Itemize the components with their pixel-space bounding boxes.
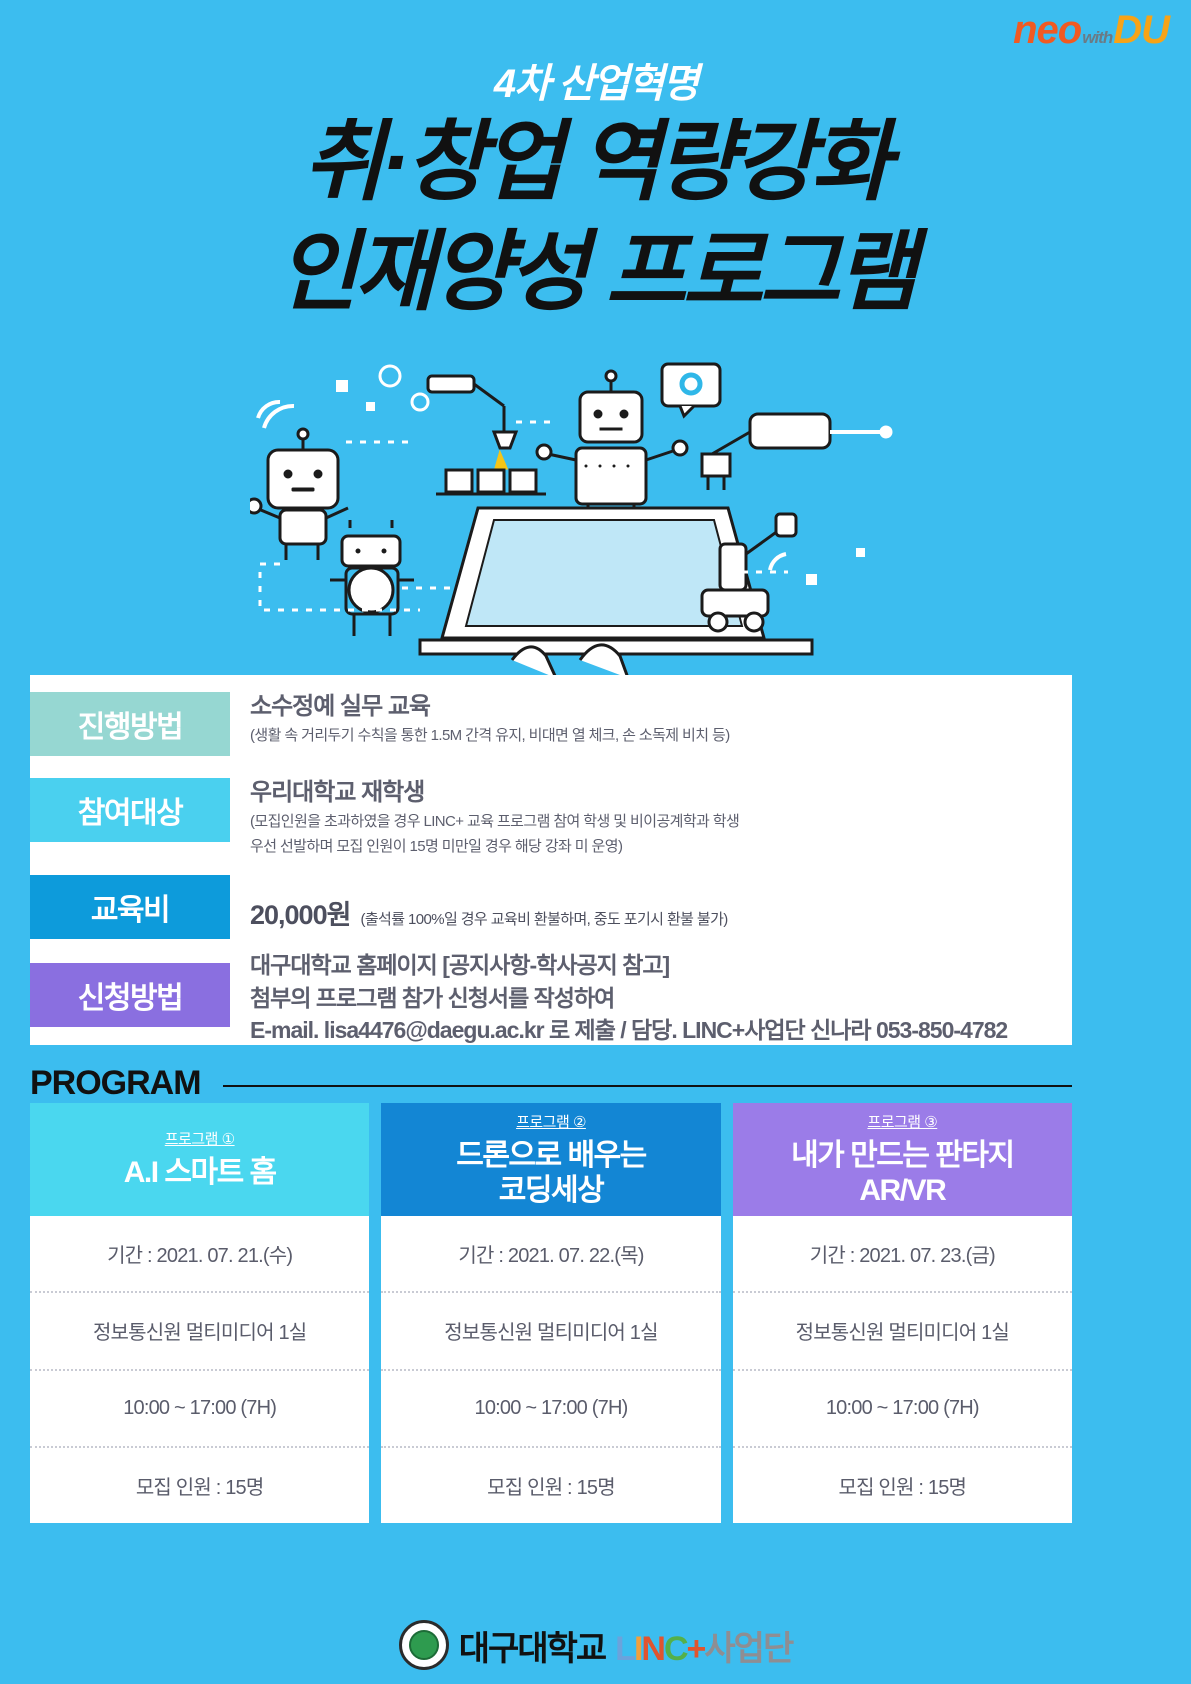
robot-arm-right-icon <box>702 414 891 490</box>
program-card-3-body: 기간 : 2021. 07. 23.(금) 정보통신원 멀티미디어 1실 10:… <box>733 1216 1072 1523</box>
program-card-3-index: 프로그램 ③ <box>867 1111 937 1132</box>
program-card-list: 프로그램 ① A.I 스마트 홈 기간 : 2021. 07. 21.(수) 정… <box>30 1103 1072 1523</box>
linc-plus-logo: LINC+사업단 <box>615 1621 792 1670</box>
neo-with-du-logo: neowithDU <box>1013 8 1169 53</box>
linc-letter-l: L <box>615 1630 634 1668</box>
info-row-apply: 신청방법 대구대학교 홈페이지 [공지사항-학사공지 참고] 첨부의 프로그램 … <box>30 963 1007 1047</box>
chat-gear-icon <box>662 364 720 416</box>
robot-small-icon <box>330 520 414 636</box>
program-card-1-place: 정보통신원 멀티미디어 1실 <box>30 1291 369 1368</box>
info-body-target: 우리대학교 재학생 (모집인원을 초과하였을 경우 LINC+ 교육 프로그램 … <box>230 778 739 860</box>
program-card-3-place: 정보통신원 멀티미디어 1실 <box>733 1291 1072 1368</box>
target-sub-text-2: 우선 선발하며 모집 인원이 15명 미만일 경우 해당 강좌 미 운영) <box>250 835 739 860</box>
robots-illustration <box>250 358 950 678</box>
footer-university-name: 대구대학교 <box>459 1621 605 1670</box>
method-sub-text: (생활 속 거리두기 수칙을 통한 1.5M 간격 유지, 비대면 열 체크, … <box>250 724 730 749</box>
program-card-2-index: 프로그램 ② <box>516 1111 586 1132</box>
program-card-1-body: 기간 : 2021. 07. 21.(수) 정보통신원 멀티미디어 1실 10:… <box>30 1216 369 1523</box>
logo-with-text: with <box>1082 28 1112 47</box>
program-card-3-title-line-2: AR/VR <box>791 1173 1013 1208</box>
program-card-3-title-line-1: 내가 만드는 판타지 <box>791 1138 1013 1173</box>
headline-line-1: 취·창업 역량강화 <box>0 110 1191 214</box>
program-card-1-capacity: 모집 인원 : 15명 <box>30 1446 369 1523</box>
program-card-2-period: 기간 : 2021. 07. 22.(목) <box>381 1216 720 1291</box>
program-card-2-title-line-1: 드론으로 배우는 <box>456 1138 646 1173</box>
program-card-1[interactable]: 프로그램 ① A.I 스마트 홈 기간 : 2021. 07. 21.(수) 정… <box>30 1103 369 1523</box>
program-card-1-index: 프로그램 ① <box>165 1128 235 1149</box>
program-heading-text: PROGRAM <box>30 1064 201 1103</box>
info-body-method: 소수정예 실무 교육 (생활 속 거리두기 수칙을 통한 1.5M 간격 유지,… <box>230 692 730 756</box>
linc-letter-n: N <box>641 1630 664 1668</box>
program-card-2-capacity: 모집 인원 : 15명 <box>381 1446 720 1523</box>
program-card-3-title: 내가 만드는 판타지 AR/VR <box>791 1138 1013 1209</box>
info-body-fee: 20,000원 (출석률 100%일 경우 교육비 환불하며, 중도 포기시 환… <box>230 875 728 939</box>
program-card-2-header: 프로그램 ② 드론으로 배우는 코딩세상 <box>381 1103 720 1216</box>
program-card-3-period: 기간 : 2021. 07. 23.(금) <box>733 1216 1072 1291</box>
info-tag-method: 진행방법 <box>30 692 230 756</box>
robot-arm-icon <box>428 376 516 468</box>
program-card-2-title: 드론으로 배우는 코딩세상 <box>456 1138 646 1209</box>
program-card-2[interactable]: 프로그램 ② 드론으로 배우는 코딩세상 기간 : 2021. 07. 22.(… <box>381 1103 720 1523</box>
decor-gears <box>380 366 428 410</box>
program-card-1-period: 기간 : 2021. 07. 21.(수) <box>30 1216 369 1291</box>
headline-line-2: 인재양성 프로그램 <box>0 220 1191 324</box>
seal-inner-mark <box>409 1630 439 1660</box>
program-card-2-body: 기간 : 2021. 07. 22.(목) 정보통신원 멀티미디어 1실 10:… <box>381 1216 720 1523</box>
info-tag-apply: 신청방법 <box>30 963 230 1027</box>
footer-logos: 대구대학교 LINC+사업단 <box>0 1620 1191 1670</box>
info-body-apply: 대구대학교 홈페이지 [공지사항-학사공지 참고] 첨부의 프로그램 참가 신청… <box>230 949 1007 1047</box>
poster-root: neowithDU 4차 산업혁명 취·창업 역량강화 인재양성 프로그램 <box>0 0 1191 1684</box>
apply-line-2: 첨부의 프로그램 참가 신청서를 작성하여 <box>250 982 1007 1015</box>
info-row-method: 진행방법 소수정예 실무 교육 (생활 속 거리두기 수칙을 통한 1.5M 간… <box>30 692 730 756</box>
program-card-3-time: 10:00 ~ 17:00 (7H) <box>733 1369 1072 1446</box>
program-card-3-header: 프로그램 ③ 내가 만드는 판타지 AR/VR <box>733 1103 1072 1216</box>
fee-note-text: (출석률 100%일 경우 교육비 환불하며, 중도 포기시 환불 불가) <box>360 911 727 928</box>
linc-letter-c: C <box>664 1630 687 1668</box>
program-card-2-time: 10:00 ~ 17:00 (7H) <box>381 1369 720 1446</box>
program-card-3[interactable]: 프로그램 ③ 내가 만드는 판타지 AR/VR 기간 : 2021. 07. 2… <box>733 1103 1072 1523</box>
program-heading: PROGRAM <box>30 1060 1072 1106</box>
headline-block: 4차 산업혁명 취·창업 역량강화 인재양성 프로그램 <box>0 64 1191 324</box>
logo-du-text: DU <box>1113 8 1169 52</box>
program-heading-rule <box>223 1085 1072 1087</box>
method-main-text: 소수정예 실무 교육 <box>250 692 730 722</box>
info-tag-fee: 교육비 <box>30 875 230 939</box>
info-panel: 진행방법 소수정예 실무 교육 (생활 속 거리두기 수칙을 통한 1.5M 간… <box>30 675 1072 1045</box>
daegu-university-seal-icon <box>399 1620 449 1670</box>
blocks-icon <box>436 470 546 494</box>
program-card-1-header: 프로그램 ① A.I 스마트 홈 <box>30 1103 369 1216</box>
linc-suffix-text: 사업단 <box>704 1630 792 1668</box>
headline-eyebrow: 4차 산업혁명 <box>0 64 1191 104</box>
info-row-target: 참여대상 우리대학교 재학생 (모집인원을 초과하였을 경우 LINC+ 교육 … <box>30 778 739 860</box>
robot-left-icon <box>250 402 348 560</box>
apply-line-1: 대구대학교 홈페이지 [공지사항-학사공지 참고] <box>250 949 1007 982</box>
fee-amount-text: 20,000원 <box>250 893 350 932</box>
program-card-3-capacity: 모집 인원 : 15명 <box>733 1446 1072 1523</box>
info-row-fee: 교육비 20,000원 (출석률 100%일 경우 교육비 환불하며, 중도 포… <box>30 875 728 939</box>
info-tag-target: 참여대상 <box>30 778 230 842</box>
program-card-2-place: 정보통신원 멀티미디어 1실 <box>381 1291 720 1368</box>
target-main-text: 우리대학교 재학생 <box>250 778 739 808</box>
program-card-1-title: A.I 스마트 홈 <box>124 1155 276 1190</box>
logo-neo-text: neo <box>1013 8 1081 52</box>
program-card-1-time: 10:00 ~ 17:00 (7H) <box>30 1369 369 1446</box>
program-card-2-title-line-2: 코딩세상 <box>456 1173 646 1208</box>
linc-letter-plus: + <box>687 1630 705 1668</box>
target-sub-text-1: (모집인원을 초과하였을 경우 LINC+ 교육 프로그램 참여 학생 및 비이… <box>250 810 739 835</box>
apply-line-3: E-mail. lisa4476@daegu.ac.kr 로 제출 / 담당. … <box>250 1014 1007 1047</box>
